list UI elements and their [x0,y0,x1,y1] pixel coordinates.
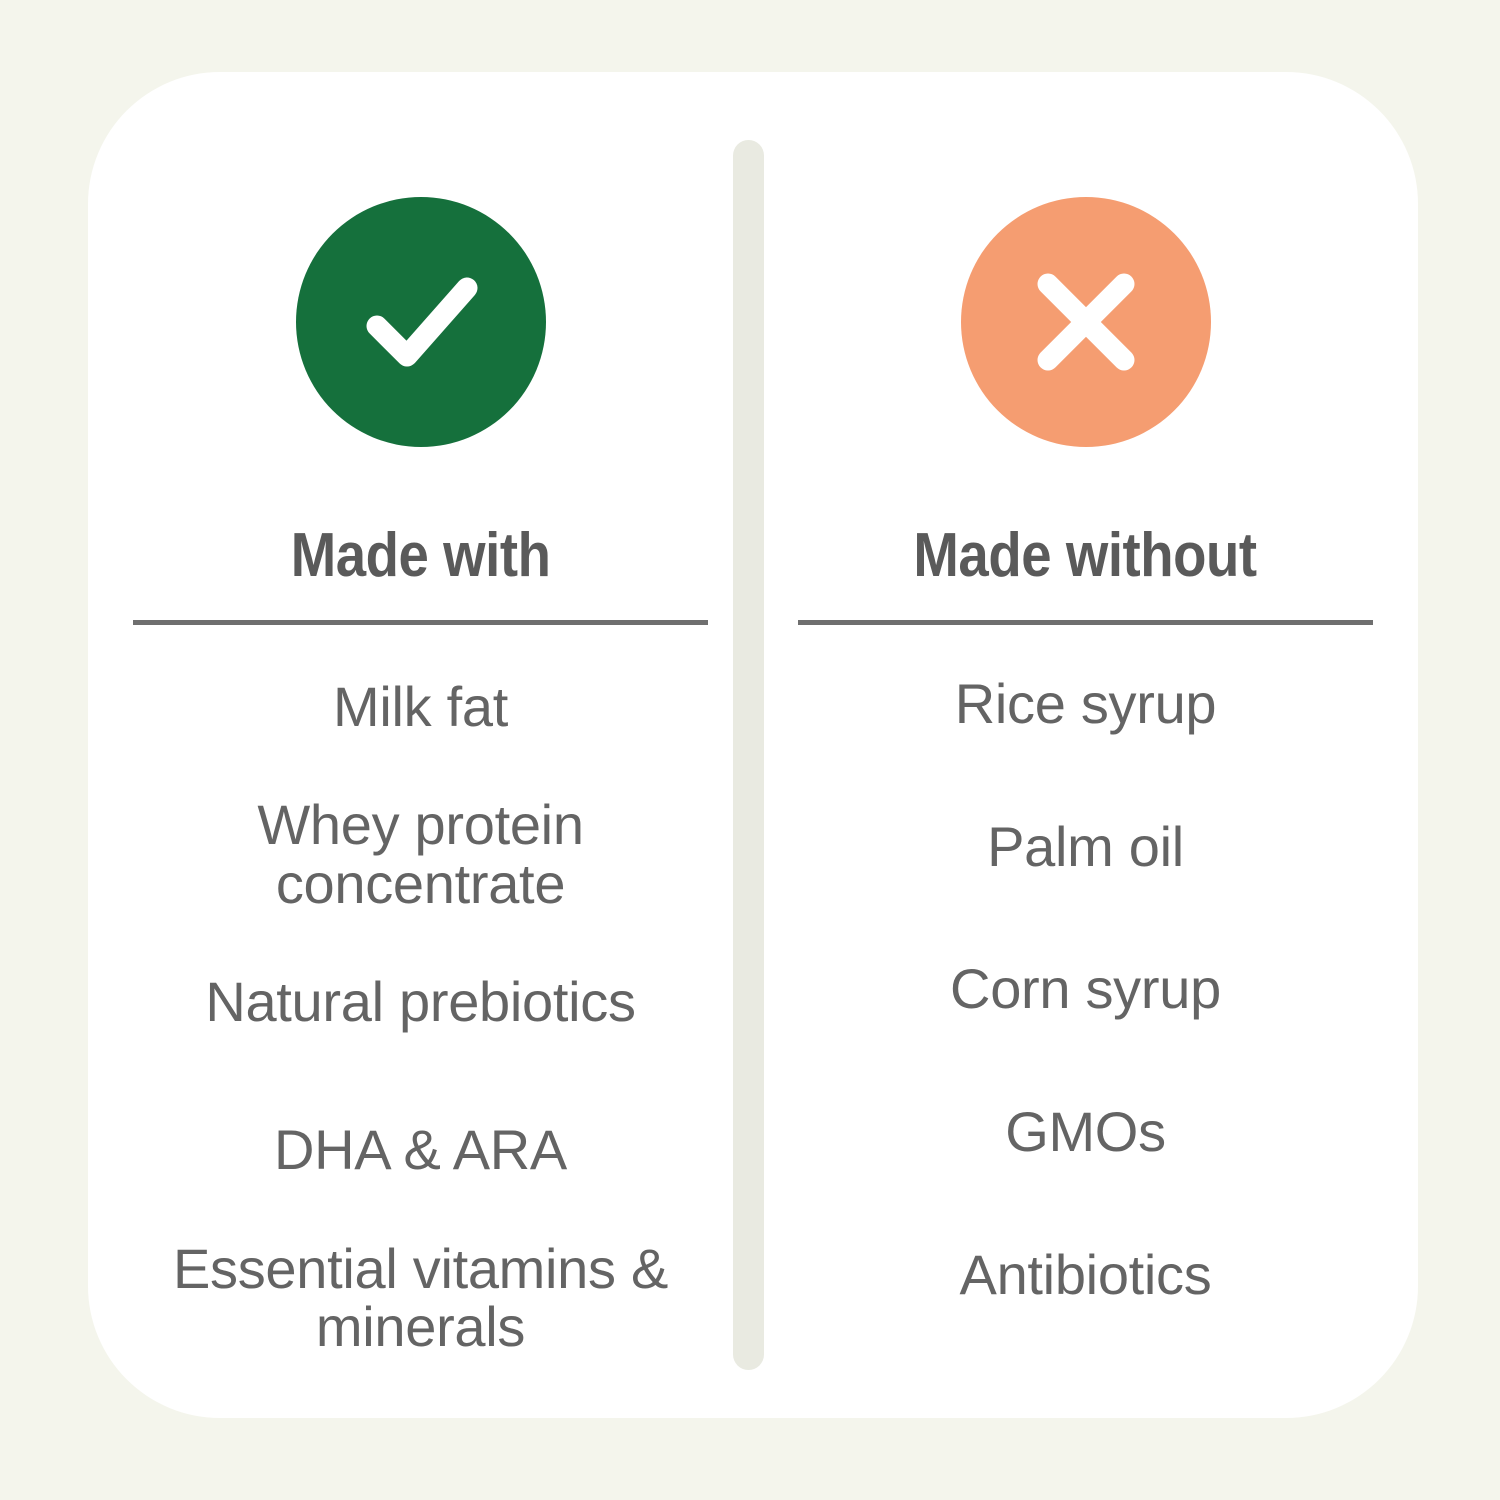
list-item: DHA & ARA [88,1076,753,1224]
list-item: Corn syrup [753,918,1418,1061]
column-heading-made-without: Made without [914,525,1257,587]
list-item: Antibiotics [753,1203,1418,1346]
column-made-without: Made without Rice syrup Palm oil Corn sy… [753,72,1418,1418]
list-item: Natural prebiotics [88,929,753,1077]
list-item: GMOs [753,1061,1418,1204]
column-heading-made-with: Made with [291,525,551,587]
x-circle-icon [961,197,1211,447]
comparison-columns: Made with Milk fat Whey protein concentr… [88,72,1418,1418]
list-item: Rice syrup [753,633,1418,776]
list-item: Palm oil [753,776,1418,919]
ingredient-list-made-with: Milk fat Whey protein concentrate Natura… [88,625,753,1402]
ingredient-list-made-without: Rice syrup Palm oil Corn syrup GMOs Anti… [753,625,1418,1402]
column-made-with: Made with Milk fat Whey protein concentr… [88,72,753,1418]
list-item: Whey protein concentrate [88,781,753,929]
list-item: Milk fat [88,633,753,781]
comparison-card-stage: Made with Milk fat Whey protein concentr… [0,0,1500,1500]
check-circle-icon [296,197,546,447]
list-item: Essential vitamins & minerals [88,1224,753,1372]
